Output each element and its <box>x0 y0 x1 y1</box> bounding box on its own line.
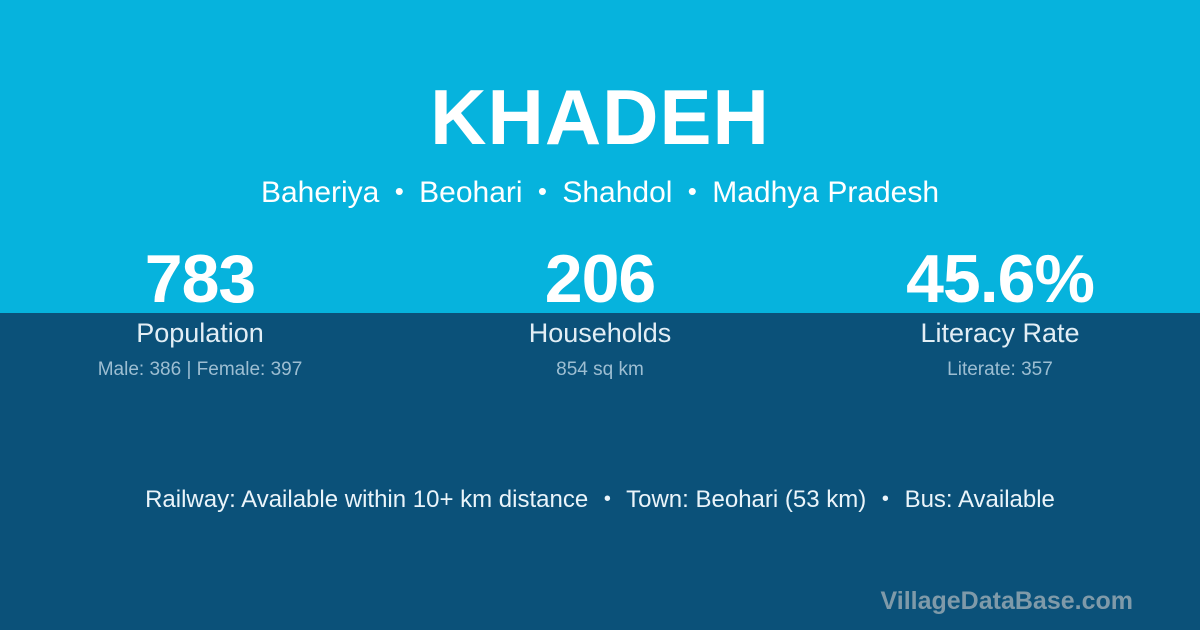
stat-literacy-rate-sub: Literate: 357 <box>800 358 1200 381</box>
page-title: KHADEH <box>0 0 1200 156</box>
breadcrumb: Baheriya • Beohari • Shahdol • Madhya Pr… <box>0 156 1200 208</box>
breadcrumb-item-village: Baheriya <box>261 176 379 209</box>
amenity-bus: Bus: Available <box>905 486 1055 513</box>
amenity-separator-icon: • <box>595 488 620 510</box>
breadcrumb-item-block: Beohari <box>419 176 522 209</box>
stats-row: 783 Population Male: 386 | Female: 397 2… <box>0 243 1200 381</box>
village-info-card: KHADEH Baheriya • Beohari • Shahdol • Ma… <box>0 0 1200 630</box>
breadcrumb-item-state: Madhya Pradesh <box>712 176 939 209</box>
stat-households-value: 206 <box>400 243 800 315</box>
stat-literacy-rate: 45.6% Literacy Rate Literate: 357 <box>800 243 1200 381</box>
card-header: KHADEH Baheriya • Beohari • Shahdol • Ma… <box>0 0 1200 208</box>
amenities-line: Railway: Available within 10+ km distanc… <box>0 484 1200 517</box>
stat-literacy-rate-label: Literacy Rate <box>800 317 1200 349</box>
breadcrumb-separator-icon: • <box>681 176 704 206</box>
breadcrumb-separator-icon: • <box>388 176 411 206</box>
site-brand-watermark: VillageDataBase.com <box>881 586 1133 616</box>
stat-households: 206 Households 854 sq km <box>400 243 800 381</box>
amenity-town: Town: Beohari (53 km) <box>626 486 866 513</box>
amenity-railway: Railway: Available within 10+ km distanc… <box>145 486 588 513</box>
breadcrumb-item-district: Shahdol <box>562 176 672 209</box>
breadcrumb-separator-icon: • <box>531 176 554 206</box>
stat-households-label: Households <box>400 317 800 349</box>
amenity-separator-icon: • <box>873 488 898 510</box>
stat-population-label: Population <box>0 317 400 349</box>
stat-population-sub: Male: 386 | Female: 397 <box>0 358 400 381</box>
stat-literacy-rate-value: 45.6% <box>800 243 1200 315</box>
stat-population-value: 783 <box>0 243 400 315</box>
stat-households-sub: 854 sq km <box>400 358 800 381</box>
stat-population: 783 Population Male: 386 | Female: 397 <box>0 243 400 381</box>
